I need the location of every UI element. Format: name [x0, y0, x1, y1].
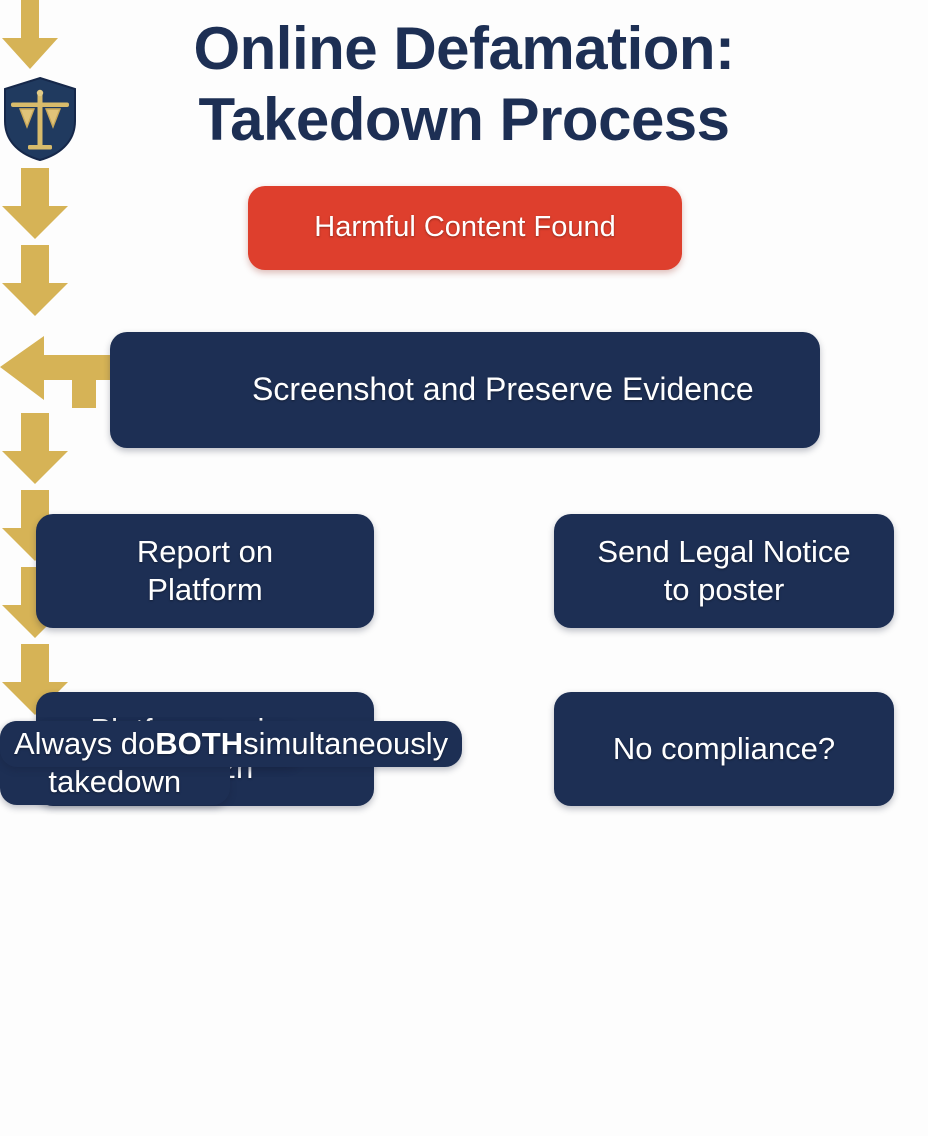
- node-harmful-content-found[interactable]: Harmful Content Found: [248, 186, 682, 270]
- infographic-canvas: Online Defamation: Takedown Process Harm…: [0, 0, 928, 1136]
- node-screenshot-preserve-evidence[interactable]: Screenshot and Preserve Evidence: [110, 332, 820, 448]
- node-no-compliance[interactable]: No compliance?: [554, 692, 894, 806]
- node-send-legal-notice[interactable]: Send Legal Notice to poster: [554, 514, 894, 628]
- node-report-on-platform[interactable]: Report on Platform: [36, 514, 374, 628]
- footer-prefix: Always do: [14, 725, 155, 763]
- page-title: Online Defamation: Takedown Process: [0, 14, 928, 156]
- footer-suffix: simultaneously: [243, 725, 448, 763]
- node-always-do-both[interactable]: Always do BOTH simultaneously: [0, 721, 462, 767]
- footer-emphasis: BOTH: [155, 725, 243, 763]
